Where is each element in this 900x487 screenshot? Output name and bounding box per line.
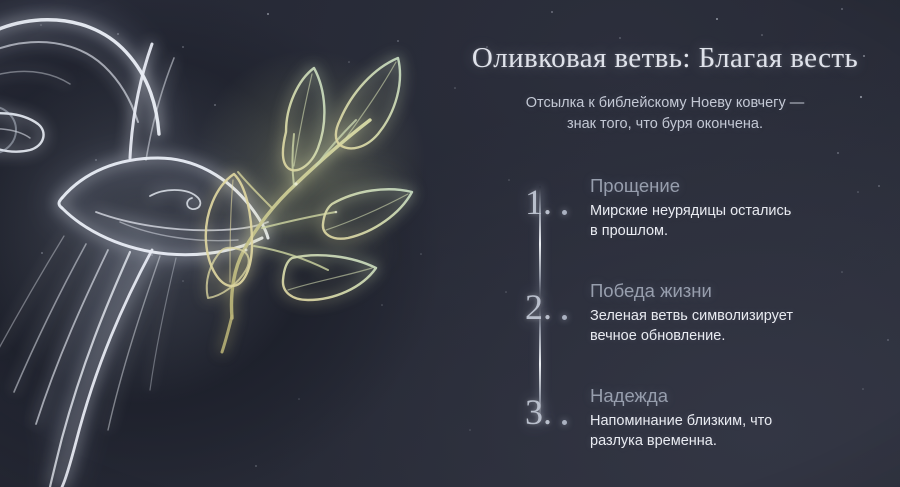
list-item-heading: Прощение — [590, 174, 680, 198]
list-item-body-line-2: в прошлом. — [590, 223, 668, 239]
list-item-body-line-1: Напоминание близким, что — [590, 413, 772, 429]
list-item-body: Мирские неурядицы остались в прошлом. — [590, 201, 890, 241]
list-item-body: Зеленая ветвь символизирует вечное обнов… — [590, 306, 890, 346]
list-item[interactable]: 2. Победа жизни Зеленая ветвь символизир… — [525, 265, 900, 370]
numbered-list: 1. Прощение Мирские неурядицы остались в… — [525, 160, 900, 475]
bullet-dot-icon — [562, 210, 567, 215]
subtitle-line-1: Отсылка к библейскому Ноеву ковчегу — — [526, 95, 805, 111]
list-item-body-line-2: разлука временна. — [590, 433, 717, 449]
list-item-body-line-1: Зеленая ветвь символизирует — [590, 308, 793, 324]
page-subtitle: Отсылка к библейскому Ноеву ковчегу — зн… — [440, 93, 890, 135]
list-item[interactable]: 3. Надежда Напоминание близким, что разл… — [525, 370, 900, 475]
bullet-dot-icon — [562, 420, 567, 425]
list-item-body-line-1: Мирские неурядицы остались — [590, 203, 791, 219]
slide-canvas: Оливковая ветвь: Благая весть Отсылка к … — [0, 0, 900, 487]
subtitle-line-2: знак того, что буря окончена. — [567, 116, 763, 132]
list-item[interactable]: 1. Прощение Мирские неурядицы остались в… — [525, 160, 900, 265]
bullet-dot-icon — [562, 315, 567, 320]
list-item-body: Напоминание близким, что разлука временн… — [590, 411, 890, 451]
list-item-heading: Надежда — [590, 384, 668, 408]
list-item-heading: Победа жизни — [590, 279, 712, 303]
page-title: Оливковая ветвь: Благая весть — [430, 41, 900, 75]
content-panel: Оливковая ветвь: Благая весть Отсылка к … — [430, 0, 900, 487]
list-item-body-line-2: вечное обновление. — [590, 328, 725, 344]
